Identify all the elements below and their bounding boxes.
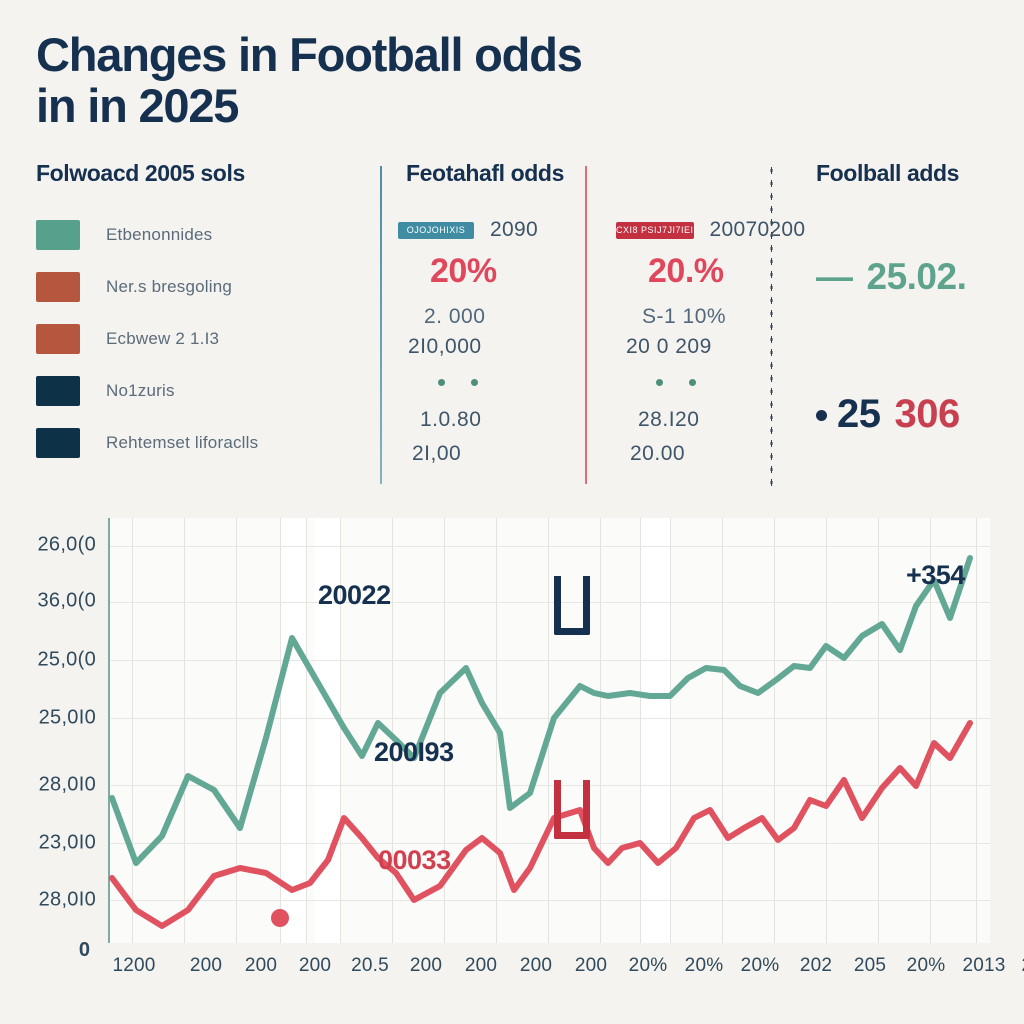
stat-badge-row: CXI8 PSIJ7JI7IEI 20070200 (616, 218, 816, 242)
x-axis-tick: 200 (299, 955, 331, 977)
legend-item-label: No1zuris (106, 381, 175, 401)
legend-swatch-icon (36, 220, 80, 250)
stat-blocks: OJOJOHIXIS 2090 20% 2. 000 2I0,000 1.0.8… (380, 218, 816, 466)
x-axis-tick: 20% (629, 955, 668, 977)
bracket-marker-navy (554, 576, 590, 635)
stat-badge-number: 2090 (490, 218, 538, 242)
legend-swatch-icon (36, 428, 80, 458)
legend-item[interactable]: Rehtemset liforaclls (36, 417, 366, 469)
chart-annotation: +354 (906, 560, 965, 591)
x-axis-tick: 200 (410, 955, 442, 977)
right-navy-value: 25 (837, 392, 881, 437)
chart-annotation: 200I93 (374, 737, 454, 768)
status-badge: OJOJOHIXIS (398, 222, 474, 239)
y-axis-tick: 28,0I0 (39, 774, 96, 797)
x-axis-tick: 200 (465, 955, 497, 977)
legend-item-label: Ecbwew 2 1.I3 (106, 329, 219, 349)
legend-panel: Folwoacd 2005 sols Etbenonnides Ner.s br… (36, 160, 366, 469)
x-axis-tick: 200 (190, 955, 222, 977)
line-chart: 26,0(0 36,0(0 25,0(0 25,0I0 28,0I0 23,0I… (0, 500, 1024, 1024)
dot-icon (471, 379, 478, 386)
stat-sub-a: S-1 10% (616, 305, 816, 329)
right-heading: Foolball adds (790, 160, 1010, 187)
y-axis-tick: 26,0(0 (37, 534, 96, 557)
infographic-page: Changes in Football odds in in 2025 Folw… (0, 0, 1024, 1024)
minus-icon: — (816, 256, 853, 297)
legend-item-label: Ner.s bresgoling (106, 277, 232, 297)
y-axis-zero: 0 (79, 939, 90, 962)
title-line-2: in in 2025 (36, 81, 736, 132)
x-axis-tick: 20.5 (351, 955, 389, 977)
y-axis-tick: 25,0I0 (39, 707, 96, 730)
right-red-value: 306 (895, 392, 960, 437)
stat-sub-b: 2I0,000 (398, 335, 598, 359)
y-axis-tick: 23,0I0 (39, 832, 96, 855)
y-axis-tick: 28,0I0 (39, 889, 96, 912)
bullet-icon (816, 410, 827, 421)
legend-item[interactable]: No1zuris (36, 365, 366, 417)
stat-sub-d: 2I,00 (398, 442, 598, 466)
stat-sub-c: 28.I20 (616, 408, 816, 432)
chart-annotation: 20022 (318, 580, 391, 611)
dot-icon (689, 379, 696, 386)
x-axis-tick: 200 (520, 955, 552, 977)
stats-panel: Feotahafl odds OJOJOHIXIS 2090 20% 2. 00… (380, 160, 760, 490)
stat-dots (398, 379, 598, 386)
right-bottom-stat: 25 306 (816, 392, 960, 437)
legend-item-label: Etbenonnides (106, 225, 212, 245)
page-title: Changes in Football odds in in 2025 (36, 30, 736, 132)
stat-block: CXI8 PSIJ7JI7IEI 20070200 20.% S-1 10% 2… (598, 218, 816, 466)
data-point-marker (271, 909, 289, 927)
stat-block: OJOJOHIXIS 2090 20% 2. 000 2I0,000 1.0.8… (380, 218, 598, 466)
dot-icon (656, 379, 663, 386)
series-lines (110, 518, 990, 943)
legend-swatch-icon (36, 376, 80, 406)
right-green-value: 25.02. (867, 256, 967, 297)
dot-icon (438, 379, 445, 386)
stat-dots (616, 379, 816, 386)
legend-item[interactable]: Ecbwew 2 1.I3 (36, 313, 366, 365)
series-line-green (112, 558, 970, 863)
legend-swatch-icon (36, 324, 80, 354)
x-axis-tick: 205 (854, 955, 886, 977)
status-badge: CXI8 PSIJ7JI7IEI (616, 222, 694, 239)
right-panel: Foolball adds —25.02. 25 306 (790, 160, 1010, 490)
stat-percent: 20.% (616, 252, 816, 291)
x-axis-tick: 200 (245, 955, 277, 977)
stat-sub-c: 1.0.80 (398, 408, 598, 432)
stat-sub-b: 20 0 209 (616, 335, 816, 359)
legend-swatch-icon (36, 272, 80, 302)
stat-badge-row: OJOJOHIXIS 2090 (398, 218, 598, 242)
x-axis-tick: 1200 (112, 955, 155, 977)
legend-item-label: Rehtemset liforaclls (106, 433, 258, 453)
legend-item[interactable]: Ner.s bresgoling (36, 261, 366, 313)
legend-heading: Folwoacd 2005 sols (36, 160, 366, 187)
plot-area: 20022 200I93 00033 +354 (108, 518, 990, 943)
right-green-stat: —25.02. (816, 256, 966, 298)
x-axis-tick: 20% (741, 955, 780, 977)
x-axis-tick: 2013 (962, 955, 1005, 977)
x-axis: 1200 200 200 200 20.5 200 200 200 200 20… (108, 955, 1008, 995)
x-axis-tick: 20% (685, 955, 724, 977)
stats-heading: Feotahafl odds (380, 160, 760, 187)
stat-percent: 20% (398, 252, 598, 291)
y-axis-tick: 25,0(0 (37, 649, 96, 672)
chart-annotation: 00033 (378, 845, 451, 876)
stat-sub-a: 2. 000 (398, 305, 598, 329)
summary-band: Folwoacd 2005 sols Etbenonnides Ner.s br… (0, 160, 1024, 490)
y-axis-tick: 36,0(0 (37, 590, 96, 613)
title-line-1: Changes in Football odds (36, 28, 582, 81)
y-axis: 26,0(0 36,0(0 25,0(0 25,0I0 28,0I0 23,0I… (0, 500, 96, 950)
bracket-marker-red (554, 780, 590, 839)
x-axis-tick: 20% (907, 955, 946, 977)
x-axis-tick: 202 (800, 955, 832, 977)
x-axis-tick: 200 (575, 955, 607, 977)
legend-item[interactable]: Etbenonnides (36, 209, 366, 261)
stat-sub-d: 20.00 (616, 442, 816, 466)
